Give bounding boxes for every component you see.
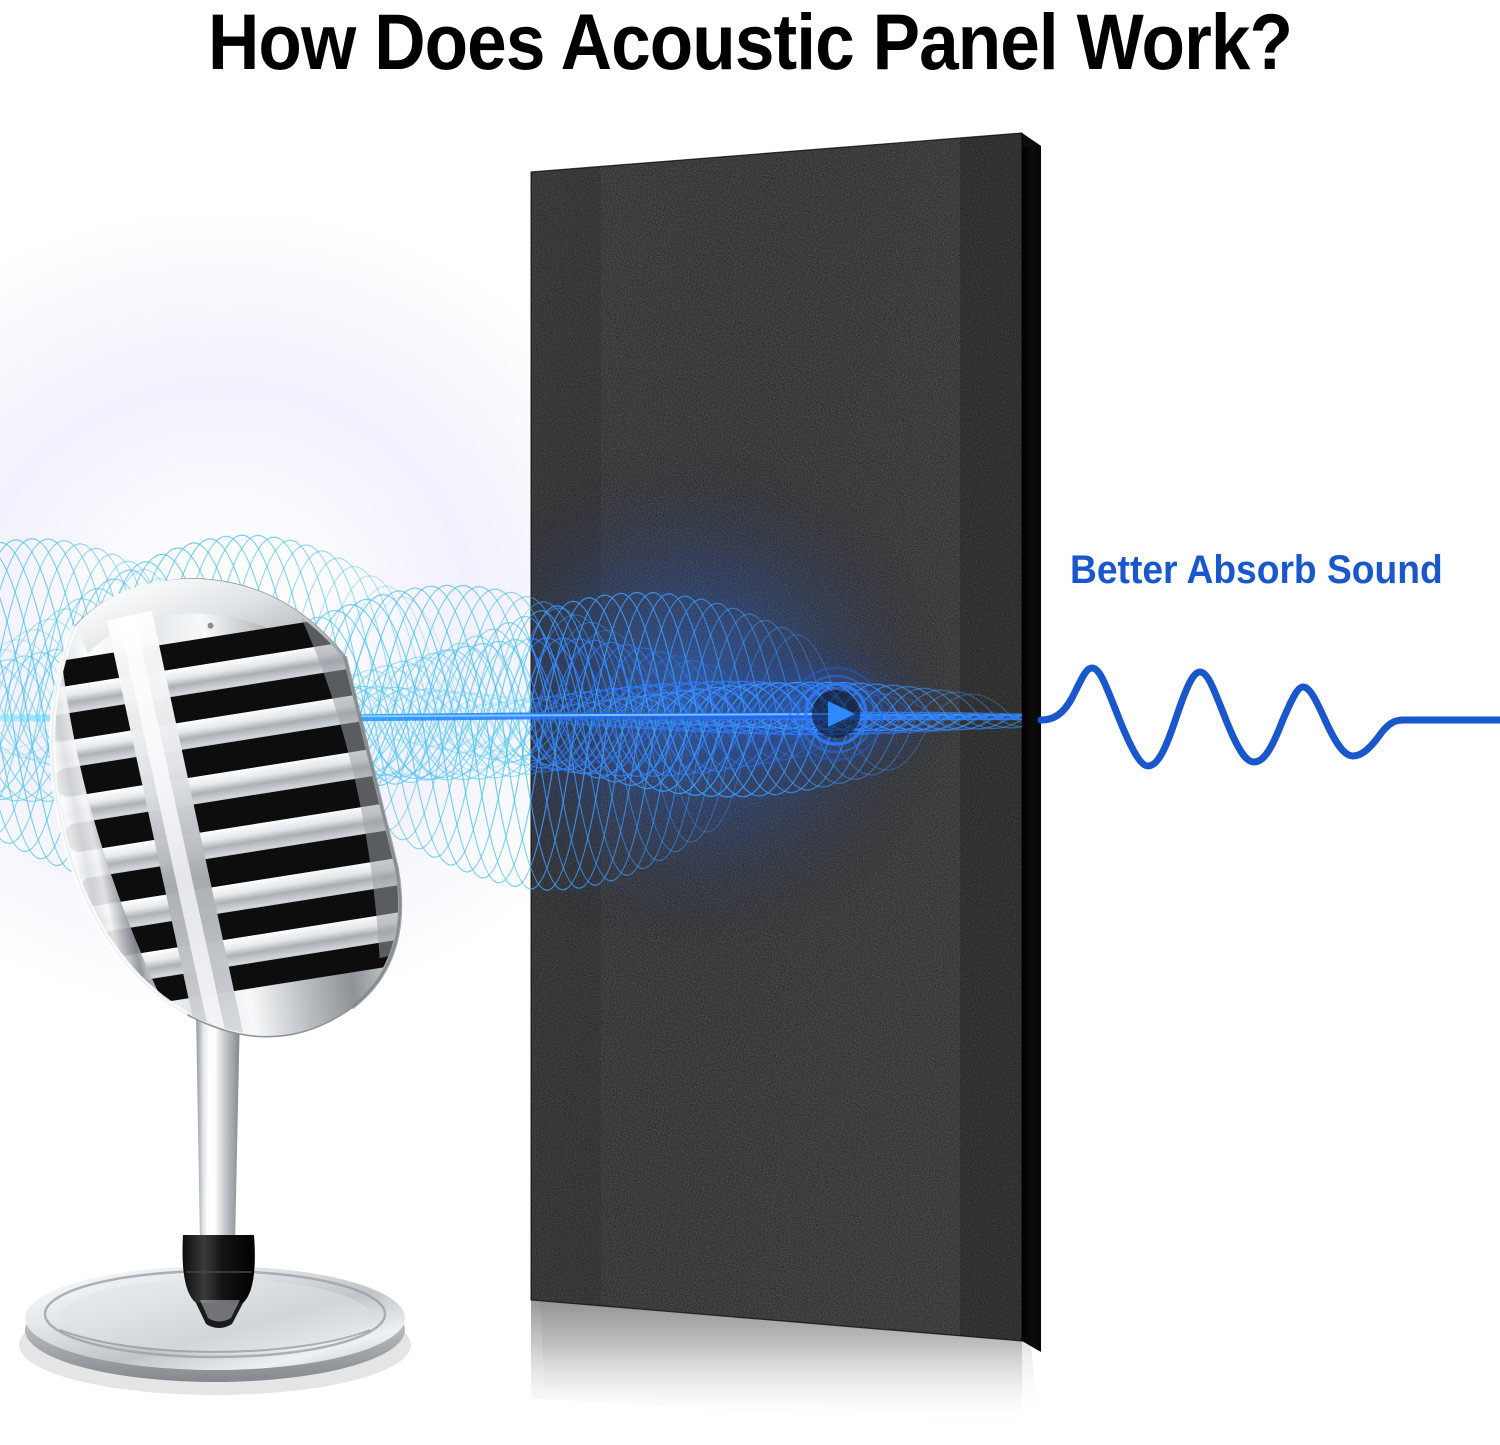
illustration-canvas: How Does Acoustic Panel Work? Better Abs… (0, 0, 1500, 1445)
page-title: How Does Acoustic Panel Work? (75, 2, 1425, 82)
damped-output-wave (0, 0, 1500, 1445)
absorb-label: Better Absorb Sound (1070, 548, 1443, 592)
output-wave-path (1041, 668, 1500, 766)
